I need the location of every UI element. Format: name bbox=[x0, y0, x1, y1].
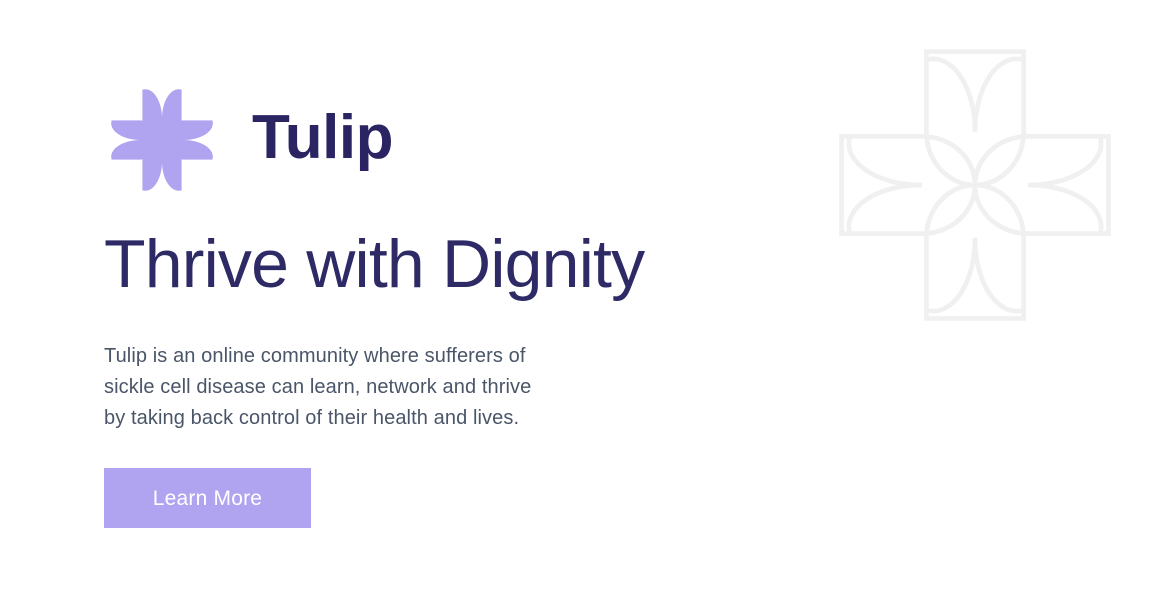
background-watermark-flower bbox=[836, 46, 1114, 324]
brand-lockup: Tulip bbox=[104, 84, 393, 196]
hero-section: Tulip Thrive with Dignity Tulip is an on… bbox=[104, 0, 864, 600]
description-line: sickle cell disease can learn, network a… bbox=[104, 372, 724, 403]
brand-name: Tulip bbox=[252, 107, 393, 169]
page-title: Thrive with Dignity bbox=[104, 228, 644, 301]
description-line: by taking back control of their health a… bbox=[104, 403, 724, 434]
tulip-flower-icon bbox=[104, 84, 220, 196]
tulip-flower-outline-icon bbox=[836, 46, 1114, 324]
learn-more-button[interactable]: Learn More bbox=[104, 468, 311, 528]
description-line: Tulip is an online community where suffe… bbox=[104, 341, 724, 372]
hero-description: Tulip is an online community where suffe… bbox=[104, 341, 724, 434]
